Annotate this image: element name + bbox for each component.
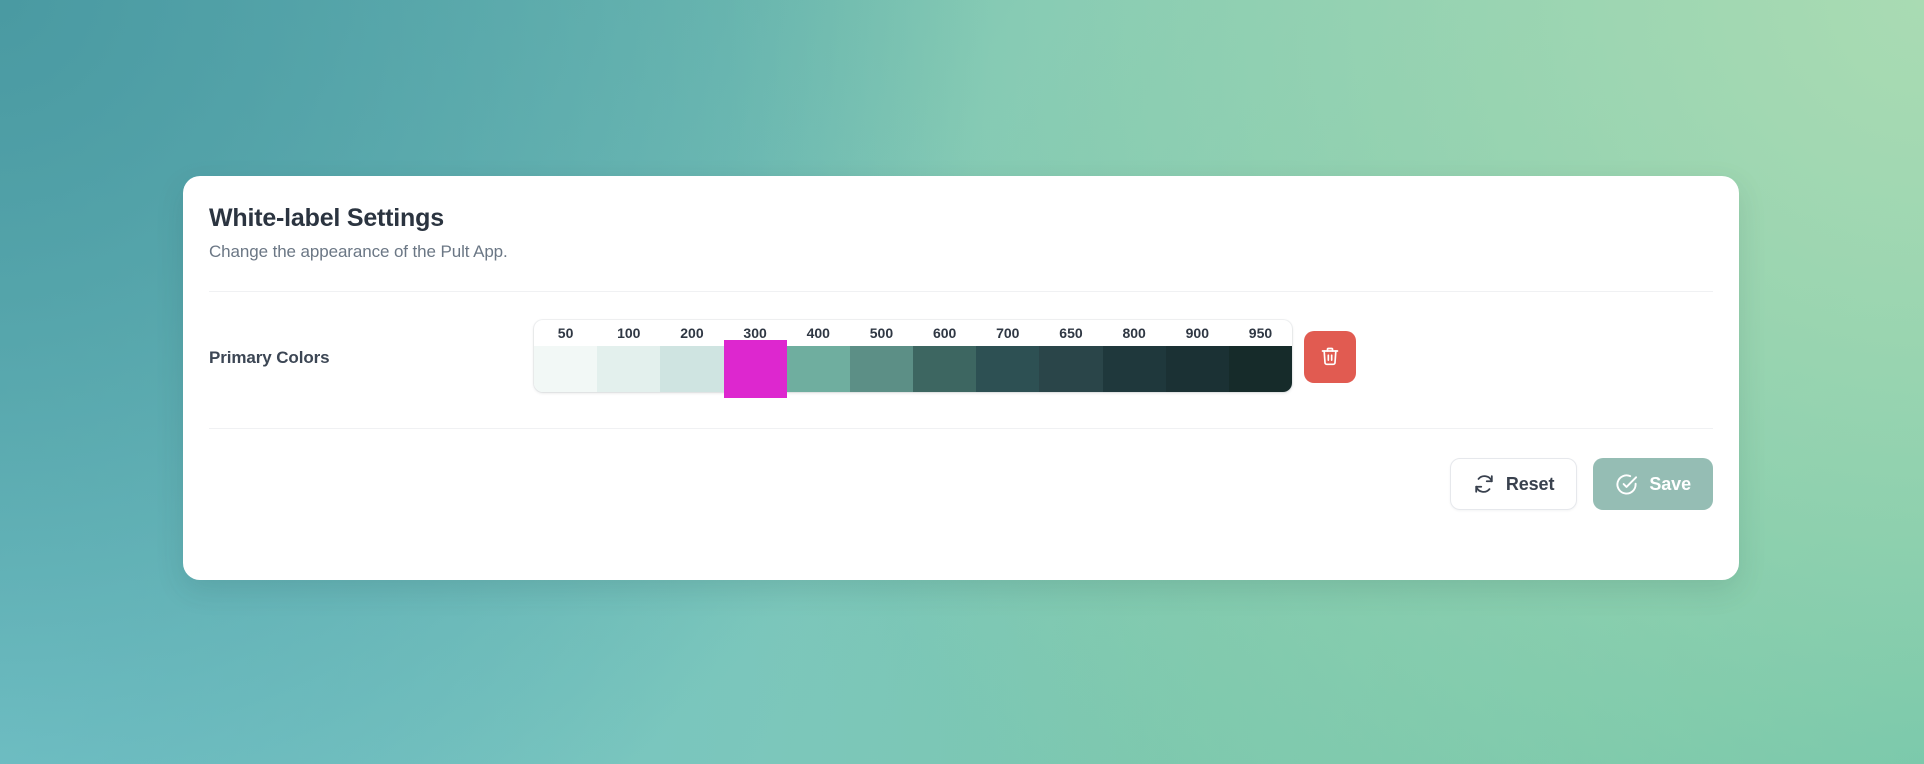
- color-swatch-400[interactable]: [787, 346, 850, 392]
- primary-colors-label: Primary Colors: [209, 320, 534, 368]
- palette-step-label-600: 600: [913, 325, 976, 341]
- palette-step-label-200: 200: [660, 325, 723, 341]
- page-title: White-label Settings: [209, 203, 1713, 234]
- color-swatch-650[interactable]: [1039, 346, 1102, 392]
- refresh-icon: [1473, 473, 1495, 495]
- palette-step-label-950: 950: [1229, 325, 1292, 341]
- primary-colors-row: Primary Colors 5010020030040050060070065…: [209, 292, 1713, 428]
- palette-step-label-500: 500: [850, 325, 913, 341]
- palette-step-label-50: 50: [534, 325, 597, 341]
- color-swatch-200[interactable]: [660, 346, 723, 392]
- save-button-label: Save: [1649, 474, 1691, 495]
- palette-step-label-700: 700: [976, 325, 1039, 341]
- color-swatch-100[interactable]: [597, 346, 660, 392]
- color-swatch-50[interactable]: [534, 346, 597, 392]
- color-swatch-800[interactable]: [1103, 346, 1166, 392]
- card-footer: Reset Save: [209, 429, 1713, 510]
- trash-icon: [1320, 346, 1340, 369]
- save-button[interactable]: Save: [1593, 458, 1713, 510]
- check-circle-icon: [1615, 473, 1638, 496]
- color-swatch-500[interactable]: [850, 346, 913, 392]
- color-swatch-600[interactable]: [913, 346, 976, 392]
- palette-swatches[interactable]: [534, 346, 1292, 392]
- palette-step-label-100: 100: [597, 325, 660, 341]
- color-swatch-700[interactable]: [976, 346, 1039, 392]
- delete-primary-colors-button[interactable]: [1304, 331, 1356, 383]
- palette-step-label-800: 800: [1103, 325, 1166, 341]
- color-swatch-950[interactable]: [1229, 346, 1292, 392]
- white-label-settings-card: White-label Settings Change the appearan…: [183, 176, 1739, 580]
- palette-step-label-900: 900: [1166, 325, 1229, 341]
- palette-step-labels: 50100200300400500600700650800900950: [534, 320, 1292, 346]
- reset-button[interactable]: Reset: [1450, 458, 1578, 510]
- color-swatch-900[interactable]: [1166, 346, 1229, 392]
- palette-step-label-400: 400: [787, 325, 850, 341]
- page-subtitle: Change the appearance of the Pult App.: [209, 242, 1713, 262]
- color-swatch-300[interactable]: [724, 340, 787, 398]
- palette-step-label-300: 300: [724, 325, 787, 341]
- primary-colors-palette[interactable]: 50100200300400500600700650800900950: [534, 320, 1292, 392]
- palette-area: 50100200300400500600700650800900950: [534, 320, 1356, 392]
- reset-button-label: Reset: [1506, 474, 1555, 495]
- card-header: White-label Settings Change the appearan…: [209, 176, 1713, 262]
- palette-step-label-650: 650: [1039, 325, 1102, 341]
